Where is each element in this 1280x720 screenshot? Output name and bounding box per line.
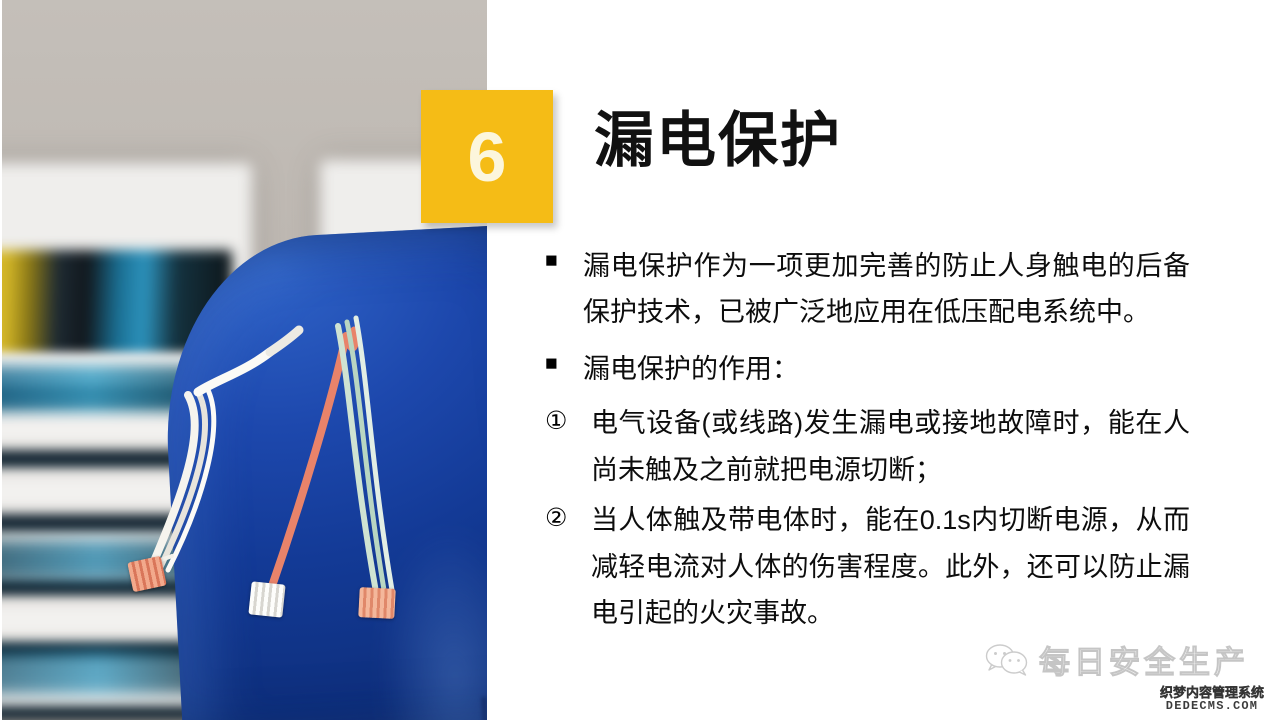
slide: 6 漏电保护 ■ 漏电保护作为一项更加完善的防止人身触电的后备保护技术，已被广泛… xyxy=(0,0,1280,720)
circled-number-marker: ① xyxy=(545,400,591,443)
numbered-text: 电气设备(或线路)发生漏电或接地故障时，能在人尚未触及之前就把电源切断； xyxy=(591,400,1190,493)
bullet-text: 漏电保护作为一项更加完善的防止人身触电的后备保护技术，已被广泛地应用在低压配电系… xyxy=(583,243,1190,336)
bullet-marker-square: ■ xyxy=(545,346,583,382)
bullet-text: 漏电保护的作用： xyxy=(583,346,1190,392)
dedecms-watermark: 织梦内容管理系统 DEDECMS.COM xyxy=(1160,686,1264,714)
bullet-item: ■ 漏电保护的作用： xyxy=(545,346,1190,392)
dedecms-domain-label: DEDECMS.COM xyxy=(1160,700,1264,714)
numbered-text: 当人体触及带电体时，能在0.1s内切断电源，从而减轻电流对人体的伤害程度。此外，… xyxy=(591,497,1190,636)
numbered-item: ② 当人体触及带电体时，能在0.1s内切断电源，从而减轻电流对人体的伤害程度。此… xyxy=(545,497,1190,636)
wechat-account-name: 每日安全生产 xyxy=(1039,637,1249,682)
section-number-badge: 6 xyxy=(421,90,553,223)
dedecms-chinese-label: 织梦内容管理系统 xyxy=(1160,686,1264,700)
wechat-icon xyxy=(985,643,1029,677)
circled-number-marker: ② xyxy=(545,497,591,540)
bullet-item: ■ 漏电保护作为一项更加完善的防止人身触电的后备保护技术，已被广泛地应用在低压配… xyxy=(545,243,1190,336)
terminal-connector-orange-right xyxy=(358,587,396,619)
section-number: 6 xyxy=(421,90,553,223)
terminal-connector-white xyxy=(248,581,285,617)
electrician-photo xyxy=(2,0,487,720)
numbered-item: ① 电气设备(或线路)发生漏电或接地故障时，能在人尚未触及之前就把电源切断； xyxy=(545,400,1190,493)
content-body: ■ 漏电保护作为一项更加完善的防止人身触电的后备保护技术，已被广泛地应用在低压配… xyxy=(545,243,1190,641)
bullet-marker-square: ■ xyxy=(545,243,583,279)
shoulder-cables xyxy=(2,0,487,720)
page-title: 漏电保护 xyxy=(594,106,842,177)
wechat-watermark: 每日安全生产 xyxy=(985,637,1249,682)
